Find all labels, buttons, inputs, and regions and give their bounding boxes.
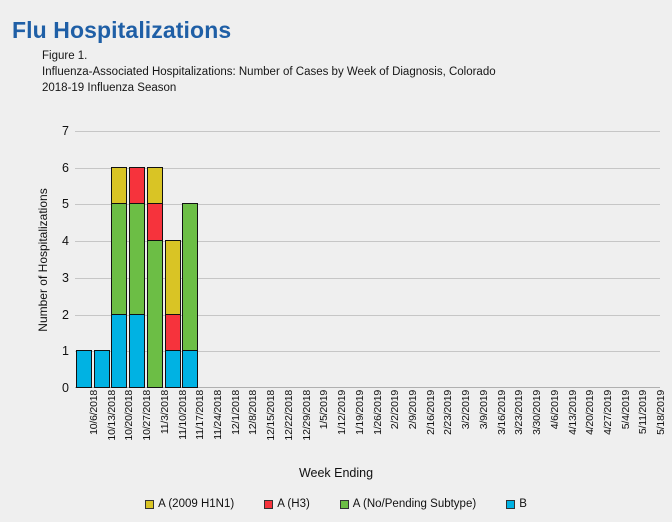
x-axis-tick-label: 11/3/2018	[159, 390, 171, 434]
bar-segment[interactable]	[165, 314, 181, 352]
bar[interactable]	[129, 168, 145, 388]
legend-item[interactable]: A (No/Pending Subtype)	[340, 498, 476, 510]
x-axis-tick-label: 2/9/2019	[407, 390, 419, 429]
x-axis-tick-label: 12/1/2018	[230, 390, 242, 435]
bar-segment[interactable]	[129, 203, 145, 314]
x-axis-tick-label: 3/9/2019	[478, 390, 490, 429]
x-axis-tick-label: 5/18/2019	[655, 390, 667, 435]
bar-segment[interactable]	[147, 203, 163, 241]
x-axis-tick-label: 1/12/2019	[336, 390, 348, 435]
y-axis-tick-label: 6	[49, 161, 69, 175]
x-axis-tick-label: 3/23/2019	[513, 390, 525, 435]
bar[interactable]	[76, 351, 92, 388]
x-axis-tick-label: 12/15/2018	[265, 390, 277, 441]
bar-segment[interactable]	[111, 203, 127, 314]
y-axis-tick-label: 0	[49, 381, 69, 395]
legend-item[interactable]: A (H3)	[264, 498, 310, 510]
figure-caption-line-1: Figure 1.	[42, 48, 496, 64]
x-axis-tick-label: 5/4/2019	[620, 390, 632, 429]
legend-swatch-icon	[506, 500, 515, 509]
bar[interactable]	[147, 168, 163, 388]
x-axis-tick-label: 10/20/2018	[123, 390, 135, 441]
x-axis-tick-label: 10/6/2018	[88, 390, 100, 435]
x-axis-tick-label: 12/8/2018	[247, 390, 259, 435]
x-axis-tick-label: 4/20/2019	[584, 390, 596, 435]
chart-legend: A (2009 H1N1)A (H3)A (No/Pending Subtype…	[0, 498, 672, 510]
x-axis-tick-label: 3/16/2019	[496, 390, 508, 435]
figure-caption-line-3: 2018-19 Influenza Season	[42, 80, 496, 96]
legend-label: A (No/Pending Subtype)	[353, 498, 476, 510]
y-axis-tick-label: 1	[49, 344, 69, 358]
x-axis-tick-label: 3/2/2019	[460, 390, 472, 429]
x-axis-tick-label: 4/6/2019	[549, 390, 561, 429]
x-axis-tick-label: 11/10/2018	[177, 390, 189, 440]
x-axis-tick-label: 5/11/2019	[637, 390, 649, 434]
figure-caption-line-2: Influenza-Associated Hospitalizations: N…	[42, 64, 496, 80]
x-axis-tick-label: 12/22/2018	[283, 390, 295, 441]
bar-segment[interactable]	[147, 167, 163, 205]
flu-hospitalizations-page: Flu Hospitalizations Figure 1. Influenza…	[0, 0, 672, 522]
bar-segment[interactable]	[147, 240, 163, 388]
x-axis-tick-label: 2/23/2019	[442, 390, 454, 435]
legend-swatch-icon	[145, 500, 154, 509]
bar[interactable]	[94, 351, 110, 388]
bar-segment[interactable]	[165, 240, 181, 314]
x-axis-tick-label: 10/13/2018	[106, 390, 118, 441]
figure-caption: Figure 1. Influenza-Associated Hospitali…	[42, 48, 496, 96]
x-axis-tick-label: 2/2/2019	[389, 390, 401, 429]
y-axis-tick-label: 5	[49, 197, 69, 211]
x-axis-title: Week Ending	[0, 466, 672, 480]
bar-segment[interactable]	[182, 203, 198, 351]
legend-swatch-icon	[264, 500, 273, 509]
x-axis-tick-label: 1/26/2019	[372, 390, 384, 435]
x-axis-tick-label: 11/17/2018	[194, 390, 206, 440]
y-axis-tick-label: 3	[49, 271, 69, 285]
y-axis-tick-label: 4	[49, 234, 69, 248]
legend-item[interactable]: B	[506, 498, 527, 510]
x-axis-tick-label: 3/30/2019	[531, 390, 543, 435]
y-axis-title: Number of Hospitalizations	[36, 188, 50, 331]
x-axis-tick-label: 10/27/2018	[141, 390, 153, 441]
bar-segment[interactable]	[129, 167, 145, 205]
bar-segment[interactable]	[182, 350, 198, 388]
x-axis-tick-label: 11/24/2018	[212, 390, 224, 440]
chart-plot-area: 01234567 Number of Hospitalizations	[75, 131, 660, 388]
legend-item[interactable]: A (2009 H1N1)	[145, 498, 234, 510]
legend-label: A (2009 H1N1)	[158, 498, 234, 510]
bar-series-container	[75, 131, 660, 388]
bar-segment[interactable]	[129, 314, 145, 388]
bar-segment[interactable]	[111, 167, 127, 205]
legend-swatch-icon	[340, 500, 349, 509]
bar[interactable]	[111, 168, 127, 388]
bar[interactable]	[165, 241, 181, 388]
x-axis-tick-label: 2/16/2019	[425, 390, 437, 435]
x-axis-tick-label: 4/13/2019	[567, 390, 579, 435]
y-axis-tick-label: 7	[49, 124, 69, 138]
bar-segment[interactable]	[76, 350, 92, 388]
x-axis-tick-label: 12/29/2018	[301, 390, 313, 441]
x-axis-tick-labels: 10/6/201810/13/201810/20/201810/27/20181…	[75, 390, 660, 462]
y-axis-tick-label: 2	[49, 308, 69, 322]
bar-segment[interactable]	[111, 314, 127, 388]
x-axis-tick-label: 1/19/2019	[354, 390, 366, 435]
legend-label: A (H3)	[277, 498, 310, 510]
bar[interactable]	[182, 204, 198, 388]
legend-label: B	[519, 498, 527, 510]
bar-segment[interactable]	[165, 350, 181, 388]
bar-segment[interactable]	[94, 350, 110, 388]
x-axis-tick-label: 4/27/2019	[602, 390, 614, 435]
page-title: Flu Hospitalizations	[12, 17, 231, 44]
x-axis-tick-label: 1/5/2019	[318, 390, 330, 429]
